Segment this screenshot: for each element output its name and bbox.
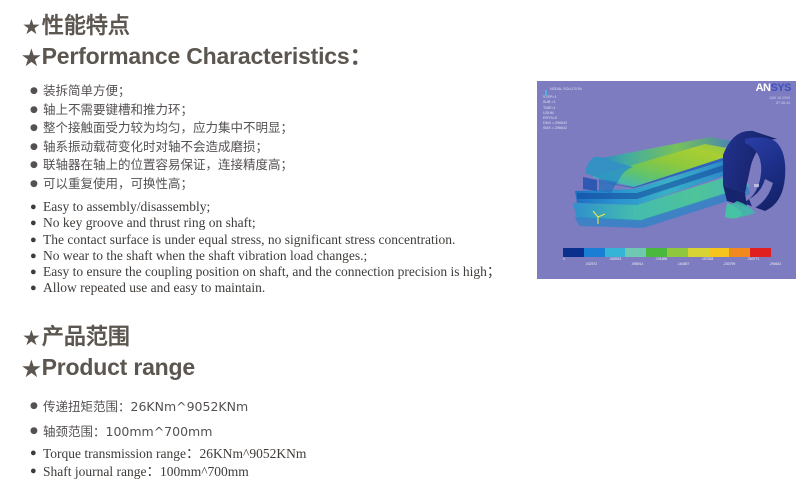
- legend-swatch-6: [688, 248, 709, 257]
- performance-bullets-en: ●Easy to assembly/disassembly; ●No key g…: [30, 199, 500, 297]
- legend-swatch-5: [667, 248, 688, 257]
- fea-meta-right: JUN 18 2009 07:38:44: [769, 96, 790, 106]
- list-item: ●轴系振动载荷变化时对轴不会造成磨损；: [30, 138, 293, 157]
- contour-legend-labels-row-b: .032972.098914.164857.230799.296642: [555, 257, 783, 265]
- bullet-dot-icon: ●: [30, 138, 38, 157]
- bullet-dot-icon: ●: [30, 82, 38, 101]
- fea-meta-line: SMX =.296642: [543, 126, 582, 131]
- performance-heading-block: ★性能特点 ★Performance Characteristics：: [22, 14, 372, 73]
- list-item: ●Allow repeated use and easy to maintain…: [30, 280, 500, 296]
- list-item: ●整个接触面受力较为均匀，应力集中不明显；: [30, 119, 293, 138]
- legend-swatch-3: [625, 248, 646, 257]
- list-item-text: 轴颈范围：100mm^700mm: [43, 424, 212, 439]
- bullet-dot-icon: ●: [30, 280, 37, 296]
- list-item-text: Torque transmission range：26KNm^9052KNm: [43, 446, 306, 461]
- bullet-dot-icon: ●: [30, 215, 37, 231]
- bullet-dot-icon: ●: [30, 119, 38, 138]
- list-item-text: Shaft journal range：100mm^700mm: [43, 464, 249, 479]
- list-item: ●轴上不需要键槽和推力环；: [30, 101, 293, 120]
- legend-swatch-0: [563, 248, 584, 257]
- list-item: ●No key groove and thrust ring on shaft;: [30, 215, 500, 231]
- fea-time: 07:38:44: [769, 101, 790, 106]
- legend-swatch-8: [729, 248, 750, 257]
- bullet-dot-icon: ●: [30, 419, 38, 444]
- fea-meta-left: NODAL SOLUTION STEP=1 SUB =1 TIME=1 USUM…: [543, 87, 582, 132]
- legend-swatch-4: [646, 248, 667, 257]
- list-item: ●传递扭矩范围：26KNm^9052KNm: [30, 394, 248, 419]
- performance-heading-en-text: Performance Characteristics：: [42, 43, 373, 69]
- bullet-dot-icon: ●: [30, 232, 37, 248]
- list-item: ●轴颈范围：100mm^700mm: [30, 419, 248, 444]
- list-item-text: No key groove and thrust ring on shaft;: [43, 215, 256, 230]
- ansys-logo: ANSYS: [756, 83, 791, 94]
- list-item-text: 联轴器在轴上的位置容易保证，连接精度高；: [43, 157, 293, 172]
- list-item-text: 装拆简单方便；: [43, 83, 131, 98]
- bullet-dot-icon: ●: [30, 199, 37, 215]
- product-range-specs-cn: ●传递扭矩范围：26KNm^9052KNm ●轴颈范围：100mm^700mm: [30, 394, 248, 444]
- list-item: ●Torque transmission range：26KNm^9052KNm: [30, 445, 306, 463]
- list-item-text: 可以重复使用，可换性高；: [43, 176, 193, 191]
- bullet-dot-icon: ●: [30, 445, 37, 463]
- bullet-dot-icon: ●: [30, 101, 38, 120]
- product-range-specs-en: ●Torque transmission range：26KNm^9052KNm…: [30, 445, 306, 480]
- list-item-text: The contact surface is under equal stres…: [43, 232, 455, 247]
- list-item-text: 轴系振动载荷变化时对轴不会造成磨损；: [43, 139, 268, 154]
- list-item-text: Easy to assembly/disassembly;: [43, 199, 210, 214]
- ansys-logo-part1: AN: [756, 82, 771, 94]
- list-item-text: Allow repeated use and easy to maintain.: [43, 280, 265, 295]
- list-item: ●装拆简单方便；: [30, 82, 293, 101]
- list-item-text: 整个接触面受力较为均匀，应力集中不明显；: [43, 120, 293, 135]
- legend-label: .230799: [723, 262, 735, 266]
- performance-heading-en: ★Performance Characteristics：: [22, 42, 372, 73]
- legend-swatch-1: [584, 248, 605, 257]
- bullet-dot-icon: ●: [30, 248, 37, 264]
- legend-swatch-2: [605, 248, 626, 257]
- list-item-text: 轴上不需要键槽和推力环；: [43, 102, 193, 117]
- performance-heading-cn: ★性能特点: [22, 14, 372, 40]
- bullet-dot-icon: ●: [30, 463, 37, 480]
- fea-solution-title: NODAL SOLUTION: [543, 87, 582, 92]
- list-item: ●Shaft journal range：100mm^700mm: [30, 463, 306, 480]
- star-icon: ★: [22, 45, 41, 73]
- legend-label: .296642: [769, 262, 781, 266]
- legend-swatch-9: [750, 248, 771, 257]
- list-item: ●The contact surface is under equal stre…: [30, 232, 500, 248]
- list-item: ●联轴器在轴上的位置容易保证，连接精度高；: [30, 156, 293, 175]
- product-range-heading-en-text: Product range: [42, 354, 195, 380]
- bullet-dot-icon: ●: [30, 156, 38, 175]
- performance-heading-cn-text: 性能特点: [42, 14, 130, 39]
- list-item: ●可以重复使用，可换性高；: [30, 175, 293, 194]
- star-icon: ★: [22, 356, 41, 384]
- star-icon: ★: [22, 14, 41, 40]
- list-item-text: No wear to the shaft when the shaft vibr…: [43, 248, 367, 263]
- ansys-logo-part2: SYS: [770, 82, 791, 94]
- legend-swatch-7: [709, 248, 730, 257]
- product-range-heading-cn-text: 产品范围: [42, 325, 130, 350]
- product-range-heading-en: ★Product range: [22, 353, 195, 384]
- bullet-dot-icon: ●: [30, 264, 37, 280]
- legend-label: .164857: [677, 262, 689, 266]
- list-item-text: 传递扭矩范围：26KNm^9052KNm: [43, 399, 248, 414]
- star-icon: ★: [22, 325, 41, 351]
- legend-label: .098914: [631, 262, 643, 266]
- list-item: ●Easy to ensure the coupling position on…: [30, 264, 500, 280]
- fea-marker-icon: [545, 90, 547, 96]
- list-item: ●Easy to assembly/disassembly;: [30, 199, 500, 215]
- list-item-text: Easy to ensure the coupling position on …: [43, 264, 500, 279]
- bullet-dot-icon: ●: [30, 175, 38, 194]
- product-range-heading-cn: ★产品范围: [22, 325, 195, 351]
- bullet-dot-icon: ●: [30, 394, 38, 419]
- performance-bullets-cn: ●装拆简单方便； ●轴上不需要键槽和推力环； ●整个接触面受力较为均匀，应力集中…: [30, 82, 293, 194]
- legend-label: .032972: [585, 262, 597, 266]
- list-item: ●No wear to the shaft when the shaft vib…: [30, 248, 500, 264]
- product-range-heading-block: ★产品范围 ★Product range: [22, 325, 195, 384]
- contour-legend: [563, 248, 771, 257]
- ansys-fea-figure: ANSYS JUN 18 2009 07:38:44 NODAL SOLUTIO…: [537, 81, 796, 279]
